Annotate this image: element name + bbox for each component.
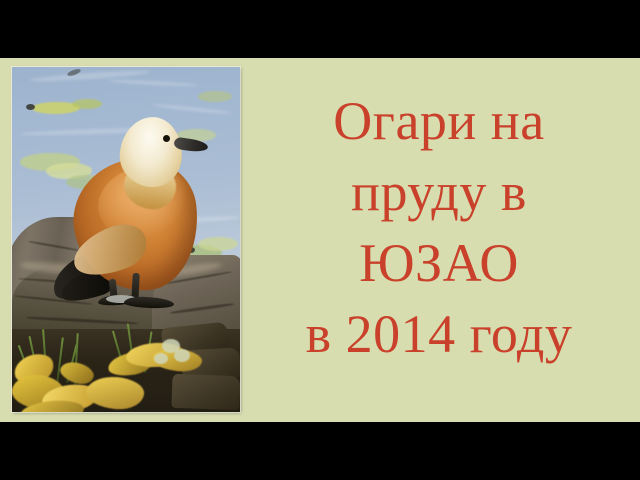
bark-chunk bbox=[171, 374, 240, 410]
pale-leaf bbox=[174, 349, 190, 362]
title-block: Огари на пруду в ЮЗАО в 2014 году bbox=[246, 86, 632, 396]
title-line-2: пруду в bbox=[351, 157, 527, 228]
photo-frame bbox=[12, 67, 240, 412]
pale-leaf bbox=[154, 353, 168, 364]
letterbox-bar-bottom bbox=[0, 422, 640, 480]
title-line-4: в 2014 году bbox=[306, 299, 573, 370]
duck-eye bbox=[163, 135, 170, 142]
slide-canvas: Огари на пруду в ЮЗАО в 2014 году bbox=[0, 58, 640, 422]
water-debris bbox=[26, 104, 35, 110]
ruddy-shelduck bbox=[46, 97, 222, 317]
title-line-3: ЮЗАО bbox=[359, 228, 519, 299]
title-line-1: Огари на bbox=[333, 86, 544, 157]
letterbox-bar-top bbox=[0, 0, 640, 58]
photograph-ruddy-shelduck bbox=[12, 67, 240, 412]
duck-foot bbox=[124, 296, 174, 309]
video-thumbnail-frame: Огари на пруду в ЮЗАО в 2014 году bbox=[0, 0, 640, 480]
